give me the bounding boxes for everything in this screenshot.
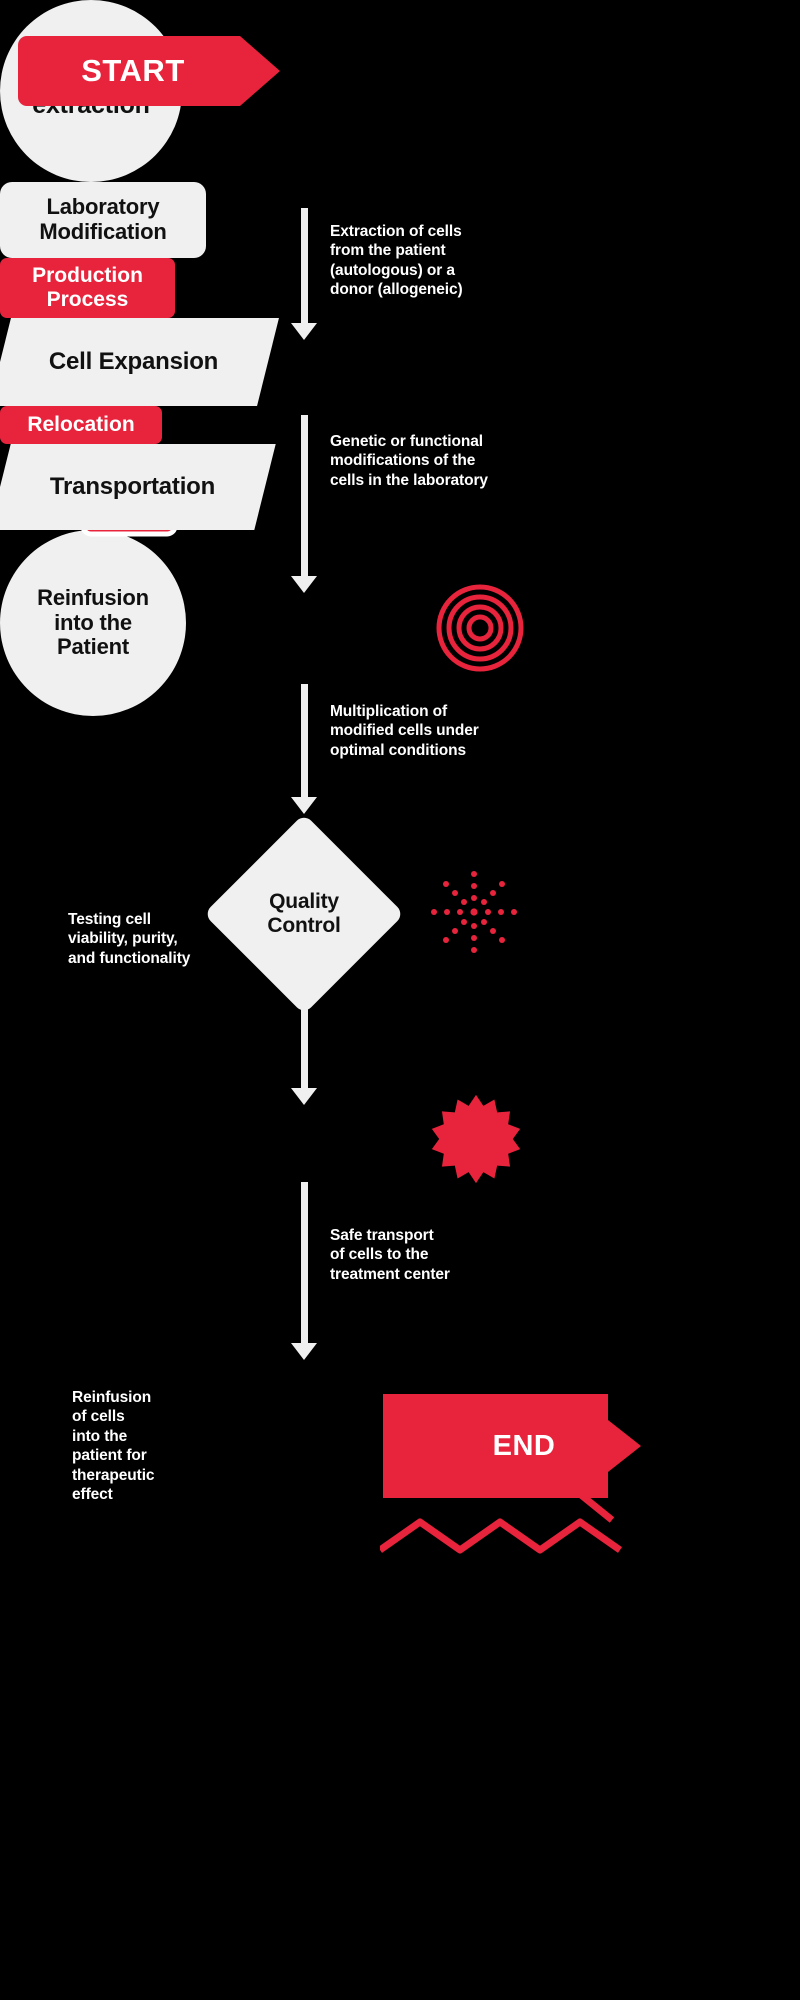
desc-line: effect: [72, 1485, 212, 1504]
arrow-head: [291, 576, 317, 593]
desc-line: and functionality: [68, 949, 258, 968]
desc-line: Extraction of cells: [330, 222, 550, 241]
desc-line: of cells to the: [330, 1245, 540, 1264]
arrow-head: [291, 1088, 317, 1105]
arrow-head: [291, 323, 317, 340]
node-cell-expansion-label: Cell Expansion: [49, 349, 218, 376]
badge-production-process[interactable]: Production Process: [0, 258, 175, 318]
desc-line: patient for: [72, 1446, 212, 1465]
zigzag-decoration: [380, 1400, 640, 1580]
desc-line: Safe transport: [330, 1226, 540, 1245]
badge-production-line2: Process: [47, 288, 129, 312]
concentric-circles-icon: [436, 584, 524, 672]
node-cell-expansion[interactable]: Cell Expansion: [0, 318, 279, 406]
desc-line: of cells: [72, 1407, 212, 1426]
desc-line: cells in the laboratory: [330, 471, 580, 490]
desc-line: Genetic or functional: [330, 432, 580, 451]
arrow-transport-to-reinfusion: [291, 1182, 317, 1360]
start-banner-body: START: [18, 36, 240, 106]
node-qc-line1: Quality: [267, 890, 340, 914]
desc-line: viability, purity,: [68, 929, 258, 948]
node-laboratory-modification[interactable]: Laboratory Modification: [0, 182, 206, 258]
arrow-head: [291, 797, 317, 814]
desc-line: Testing cell: [68, 910, 258, 929]
node-reinfusion-line3: Patient: [37, 635, 149, 660]
desc-line: Multiplication of: [330, 702, 570, 721]
node-qc-line2: Control: [267, 914, 340, 938]
node-reinfusion[interactable]: Reinfusion into the Patient: [0, 530, 186, 716]
node-lab-line2: Modification: [39, 220, 166, 245]
desc-line: modified cells under: [330, 721, 570, 740]
start-banner: START: [18, 36, 280, 106]
dotted-starburst-icon: [420, 862, 528, 962]
node-reinfusion-label: Reinfusion into the Patient: [37, 586, 149, 660]
arrow-lab-to-expansion: [291, 415, 317, 593]
badge-relocation-label: Relocation: [27, 413, 134, 437]
desc-line: treatment center: [330, 1265, 540, 1284]
desc-line: donor (allogeneic): [330, 280, 550, 299]
arrow-shaft: [301, 983, 308, 1088]
spiked-star-icon: [430, 1093, 522, 1185]
node-reinfusion-line1: Reinfusion: [37, 586, 149, 611]
desc-transportation: Safe transport of cells to the treatment…: [330, 1226, 540, 1284]
desc-cell-expansion: Multiplication of modified cells under o…: [330, 702, 570, 760]
flowchart-canvas: START Cell extraction Extraction of cell…: [0, 0, 800, 2000]
desc-line: (autologous) or a: [330, 261, 550, 280]
desc-line: optimal conditions: [330, 741, 570, 760]
arrow-extraction-to-lab: [291, 208, 317, 340]
desc-line: into the: [72, 1427, 212, 1446]
arrow-shaft: [301, 415, 308, 576]
arrow-expansion-to-quality: [291, 684, 317, 814]
arrow-head: [291, 1343, 317, 1360]
node-transportation[interactable]: Transportation: [0, 444, 276, 530]
start-banner-arrow-tip: [240, 36, 280, 106]
node-reinfusion-line2: into the: [37, 611, 149, 636]
desc-quality-control: Testing cell viability, purity, and func…: [68, 910, 258, 968]
node-transportation-label: Transportation: [50, 474, 215, 501]
desc-line: modifications of the: [330, 451, 580, 470]
badge-production-line1: Production: [32, 264, 143, 288]
desc-line: from the patient: [330, 241, 550, 260]
arrow-shaft: [301, 208, 308, 323]
arrow-shaft: [301, 1182, 308, 1343]
desc-line: Reinfusion: [72, 1388, 212, 1407]
arrow-quality-to-transport: [291, 983, 317, 1105]
desc-laboratory-modification: Genetic or functional modifications of t…: [330, 432, 580, 490]
desc-cell-extraction: Extraction of cells from the patient (au…: [330, 222, 550, 300]
node-lab-line1: Laboratory: [39, 195, 166, 220]
badge-relocation[interactable]: Relocation: [0, 406, 162, 444]
arrow-shaft: [301, 684, 308, 797]
start-label: START: [81, 53, 185, 89]
node-laboratory-modification-label: Laboratory Modification: [39, 195, 166, 244]
desc-reinfusion: Reinfusion of cells into the patient for…: [72, 1388, 212, 1504]
desc-line: therapeutic: [72, 1466, 212, 1485]
